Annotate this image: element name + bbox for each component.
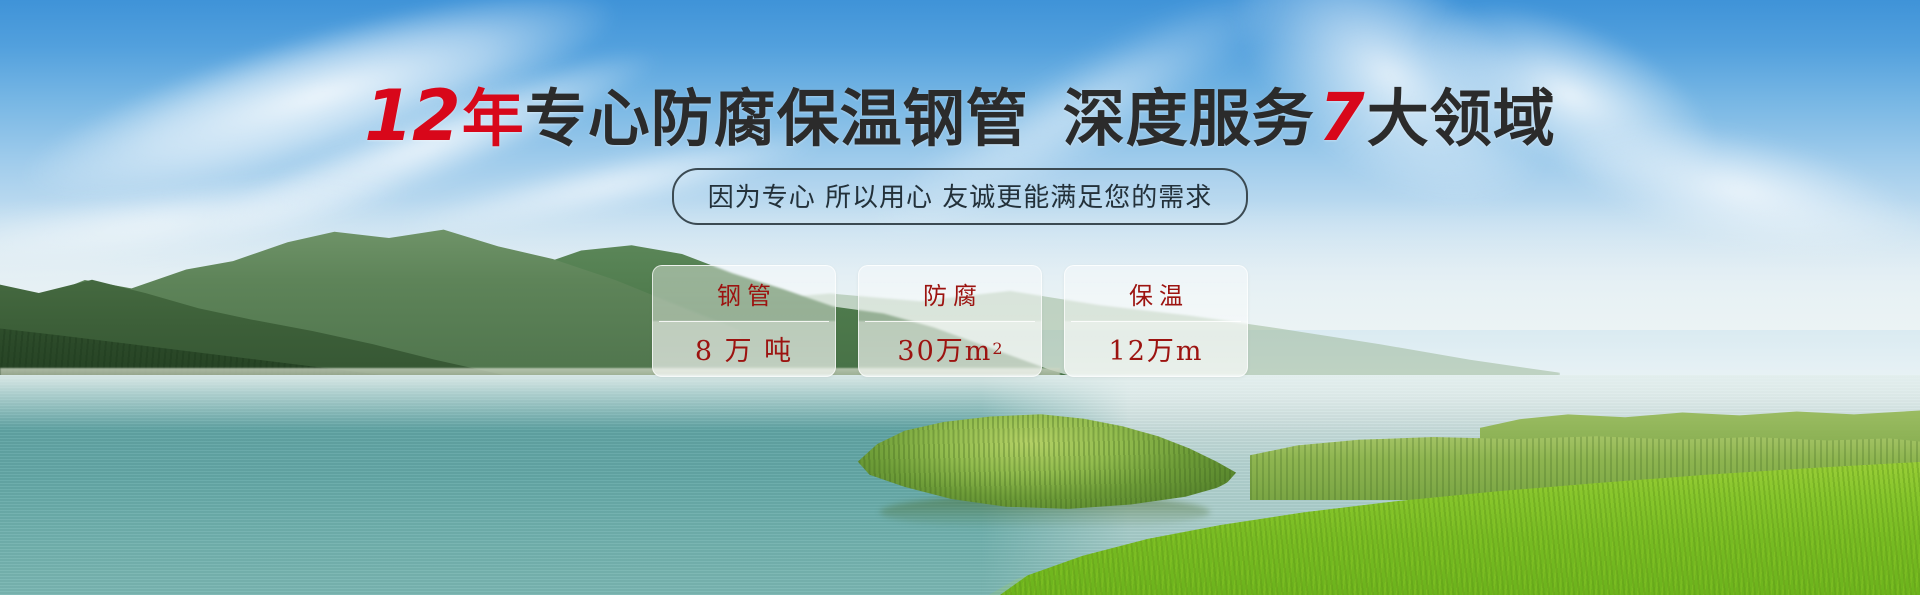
stat-value-text: 12万m: [1109, 329, 1204, 368]
headline-second-text: 深度服务: [1063, 82, 1315, 155]
subtitle-container: 因为专心 所以用心 友诚更能满足您的需求: [0, 168, 1920, 225]
stat-card-anticorrosion[interactable]: 防腐 30万m2: [858, 265, 1042, 377]
headline-main-text: 专心防腐保温钢管: [525, 82, 1029, 155]
stat-label: 防腐: [917, 266, 983, 321]
headline-years-unit: 年: [462, 82, 525, 155]
banner-content: 12年专心防腐保温钢管深度服务7大领域 因为专心 所以用心 友诚更能满足您的需求…: [0, 0, 1920, 595]
stat-card-insulation[interactable]: 保温 12万m: [1064, 265, 1248, 377]
stat-value-text: 8 万 吨: [695, 329, 793, 368]
stats-card-group: 钢管 8 万 吨 防腐 30万m2 保温 12万m: [652, 265, 1248, 377]
hero-banner: 12年专心防腐保温钢管深度服务7大领域 因为专心 所以用心 友诚更能满足您的需求…: [0, 0, 1920, 595]
stat-value: 8 万 吨: [695, 321, 793, 376]
headline-second-tail: 大领域: [1367, 82, 1556, 155]
subtitle-pill: 因为专心 所以用心 友诚更能满足您的需求: [672, 168, 1249, 225]
stat-label: 钢管: [711, 266, 777, 321]
stat-value: 12万m: [1109, 321, 1204, 376]
headline-years-number: 12: [364, 75, 461, 157]
stat-card-steel-pipe[interactable]: 钢管 8 万 吨: [652, 265, 836, 377]
stat-label: 保温: [1123, 266, 1189, 321]
stat-value-superscript: 2: [992, 339, 1002, 358]
headline-domains-number: 7: [1315, 79, 1367, 156]
headline: 12年专心防腐保温钢管深度服务7大领域: [0, 82, 1920, 153]
stat-value-text: 30万m: [897, 329, 992, 368]
stat-value: 30万m2: [897, 321, 1002, 376]
